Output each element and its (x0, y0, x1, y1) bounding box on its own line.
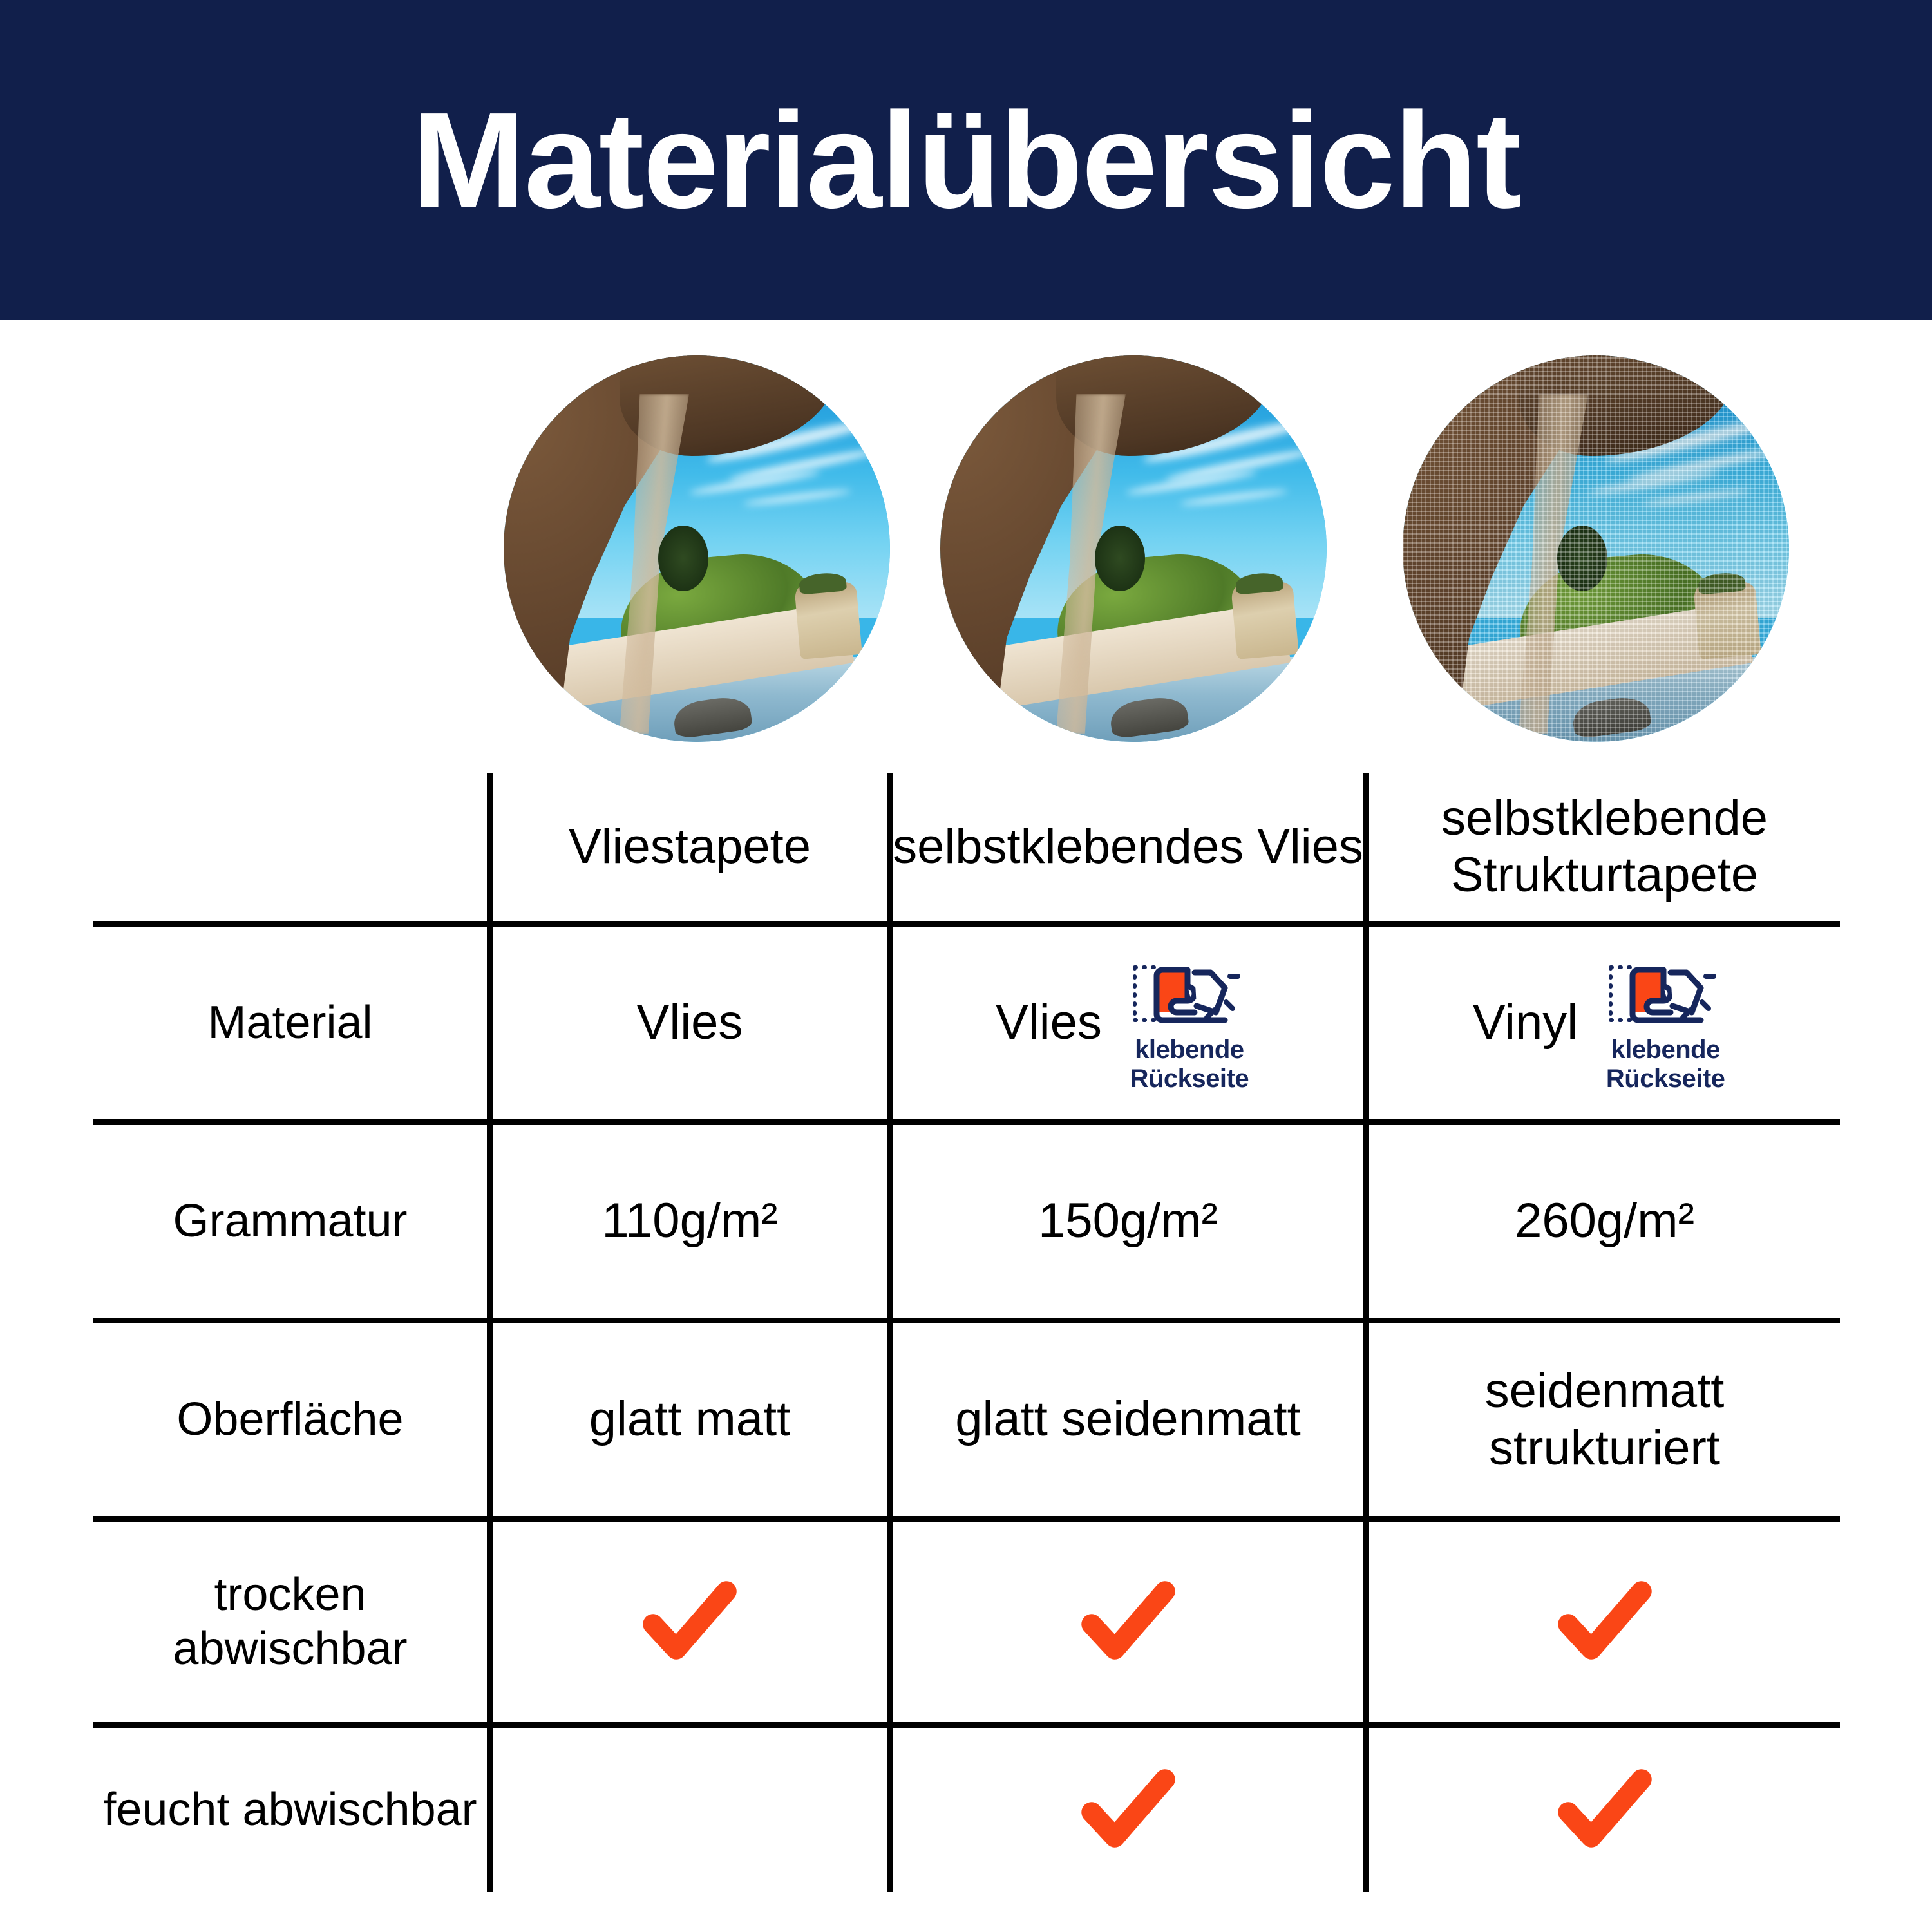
row-divider (93, 921, 1840, 927)
badge-line-2: Rückseite (1606, 1065, 1725, 1093)
cell-grammatur-vliestapete: 110g/m² (493, 1125, 887, 1318)
shrub (1095, 526, 1145, 591)
column-header-selbstklebendes-vlies: selbstklebendes Vlies (893, 773, 1363, 921)
table-header-corner (93, 773, 487, 921)
material-overview-infographic: Materialübersicht (0, 0, 1932, 1932)
badge-line-1: klebende (1135, 1036, 1244, 1064)
cell-material-selbstklebendes-vlies: Vlies (893, 927, 1363, 1119)
adhesive-badge-text: klebende Rückseite (1130, 1036, 1249, 1094)
header-banner: Materialübersicht (0, 0, 1932, 320)
cell-feucht-selbstklebendes-vlies (893, 1728, 1363, 1892)
cell-oberflaeche-vliestapete: glatt matt (493, 1323, 887, 1516)
cell-feucht-vliestapete (493, 1728, 887, 1892)
shrub (658, 526, 708, 591)
cell-value: Vlies (996, 994, 1102, 1051)
swatch-vliestapete (504, 355, 890, 742)
cell-value: Vinyl (1473, 994, 1578, 1051)
badge-line-1: klebende (1611, 1036, 1719, 1064)
cell-grammatur-strukturtapete: 260g/m² (1369, 1125, 1840, 1318)
swatch-selbstklebendes-vlies (940, 355, 1327, 742)
material-swatch-row (489, 355, 1842, 758)
row-label-grammatur: Grammatur (93, 1125, 487, 1318)
cell-trocken-strukturtapete (1369, 1522, 1840, 1722)
cell-grammatur-selbstklebendes-vlies: 150g/m² (893, 1125, 1363, 1318)
material-comparison-table: Vliestapete selbstklebendes Vlies selbst… (93, 759, 1840, 1892)
adhesive-backing-badge: klebende Rückseite (1119, 953, 1260, 1094)
cell-oberflaeche-selbstklebendes-vlies: glatt seidenmatt (893, 1323, 1363, 1516)
sea-stack (1693, 581, 1761, 659)
cave-photo (940, 355, 1327, 742)
row-divider (93, 1318, 1840, 1323)
peel-adhesive-backing-icon (1128, 953, 1251, 1032)
cloud (743, 488, 851, 507)
swatch-selbstklebende-strukturtapete (1403, 355, 1789, 742)
cell-material-vliestapete: Vlies (493, 927, 887, 1119)
badge-line-2: Rückseite (1130, 1065, 1249, 1093)
orange-checkmark-icon (1557, 1762, 1653, 1859)
orange-checkmark-icon (1080, 1762, 1177, 1859)
cell-feucht-strukturtapete (1369, 1728, 1840, 1892)
orange-checkmark-icon (641, 1574, 738, 1671)
peel-adhesive-backing-icon (1604, 953, 1727, 1032)
page-title: Materialübersicht (412, 92, 1520, 229)
cave-photo (504, 355, 890, 742)
sea-stack (1231, 581, 1299, 659)
cell-oberflaeche-strukturtapete: seidenmatt strukturiert (1369, 1323, 1840, 1516)
shrub (1557, 526, 1607, 591)
row-divider (93, 1119, 1840, 1125)
row-divider (93, 1516, 1840, 1522)
row-label-trocken-abwischbar: trocken abwischbar (93, 1522, 487, 1722)
row-label-feucht-abwischbar: feucht abwischbar (93, 1728, 487, 1892)
column-header-selbstklebende-strukturtapete: selbstklebende Strukturtapete (1369, 773, 1840, 921)
cloud (1180, 488, 1288, 507)
cell-trocken-selbstklebendes-vlies (893, 1522, 1363, 1722)
cell-material-strukturtapete: Vinyl klebende Rückseite (1369, 927, 1840, 1119)
adhesive-badge-text: klebende Rückseite (1606, 1036, 1725, 1094)
adhesive-backing-badge: klebende Rückseite (1595, 953, 1736, 1094)
sea-stack (794, 581, 862, 659)
cloud (1642, 488, 1750, 507)
cell-trocken-vliestapete (493, 1522, 887, 1722)
cave-photo (1403, 355, 1789, 742)
orange-checkmark-icon (1080, 1574, 1177, 1671)
column-header-vliestapete: Vliestapete (493, 773, 887, 921)
row-divider (93, 1722, 1840, 1728)
orange-checkmark-icon (1557, 1574, 1653, 1671)
row-label-material: Material (93, 927, 487, 1119)
row-label-oberflaeche: Oberfläche (93, 1323, 487, 1516)
